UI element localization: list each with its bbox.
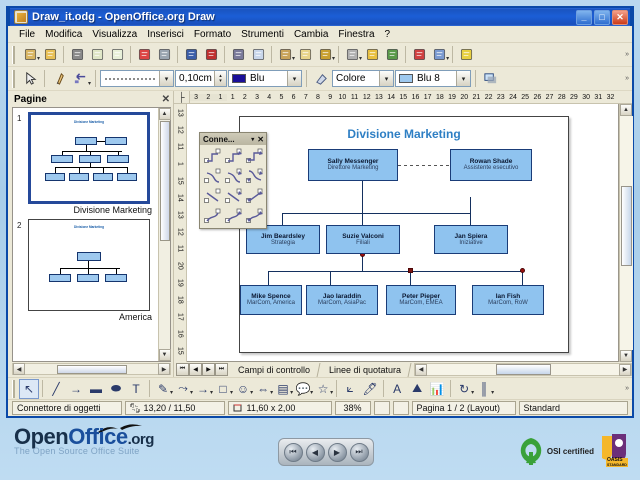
- scroll-thumb[interactable]: [621, 186, 632, 266]
- position-icon: [130, 403, 140, 413]
- thumbnail-line: [62, 151, 122, 152]
- toolbar-separator: [475, 70, 476, 87]
- layer-tab-linee-di-quotatura[interactable]: Linee di quotatura: [320, 363, 412, 377]
- box-jim-beardsley[interactable]: Jim BeardsleyStrategia: [246, 225, 320, 254]
- close-icon[interactable]: ✕: [162, 94, 170, 105]
- line-color-combo[interactable]: Blu ▾: [228, 70, 302, 87]
- pages-panel-body: 1Divisione MarketingDivisione Marketing2…: [12, 107, 171, 362]
- menu-file[interactable]: File: [14, 28, 40, 41]
- status-position: 13,20 / 11,50: [125, 401, 225, 415]
- toolbar-separator: [130, 46, 131, 63]
- box-ian-fish[interactable]: Ian FishMarCom, RoW: [472, 285, 544, 315]
- line-and-fill-toolbar: ▾ ▾ 0,10cm ▴▾ Blu ▾ Colore ▾ Blu 8 ▾: [8, 67, 632, 91]
- arrow-style-icon[interactable]: [70, 69, 90, 89]
- new-document-icon[interactable]: [20, 45, 40, 65]
- ruler-tick: 15: [177, 342, 184, 359]
- connector-ian-up[interactable]: [522, 271, 523, 285]
- line-fill-toolbar-overflow[interactable]: »: [625, 75, 632, 82]
- standard-toolbar-overflow[interactable]: »: [625, 51, 632, 58]
- box-person-role: Iniziative: [459, 240, 482, 247]
- ruler-tick: 6: [288, 94, 300, 101]
- media-next-button[interactable]: ▶: [328, 443, 347, 462]
- ruler-tick: 14: [177, 189, 184, 206]
- line-icon[interactable]: ╱: [46, 379, 66, 399]
- box-rowan-shade[interactable]: Rowan ShadeAssistente esecutivo: [450, 149, 532, 181]
- box-person-name: Ian Fish: [496, 293, 521, 300]
- chevron-down-icon[interactable]: ▾: [287, 71, 301, 86]
- rotate-icon[interactable]: ↻: [454, 379, 474, 399]
- connector-standard-arrow-end-icon[interactable]: [223, 147, 243, 166]
- main-area: Pagine ✕ 1Divisione MarketingDivisione M…: [8, 91, 632, 377]
- menu-modifica[interactable]: Modifica: [40, 28, 87, 41]
- ruler-tick: 13: [177, 206, 184, 223]
- scroll-up-icon[interactable]: ▲: [620, 104, 632, 116]
- paste-icon[interactable]: [275, 45, 295, 65]
- page-thumbnail-list: 1Divisione MarketingDivisione Marketing2…: [13, 108, 158, 361]
- box-person-name: Jao Iaraddin: [323, 293, 361, 300]
- box-peter-pieper[interactable]: Peter PieperMarCom, EMEA: [386, 285, 456, 315]
- scroll-left-icon[interactable]: ◀: [415, 364, 427, 376]
- toolbar-separator: [95, 70, 96, 87]
- box-person-role: Filiali: [356, 240, 370, 247]
- close-icon[interactable]: ✕: [257, 135, 264, 144]
- toolbar-grip[interactable]: [12, 46, 16, 64]
- undo-icon[interactable]: [315, 45, 335, 65]
- connector-mike-up[interactable]: [268, 271, 269, 285]
- autospellcheck-icon[interactable]: [201, 45, 221, 65]
- thumbnail-line: [127, 167, 128, 173]
- page-caption: America: [17, 311, 156, 322]
- chart-title: Divisione Marketing: [240, 127, 568, 141]
- scroll-thumb[interactable]: [496, 364, 551, 375]
- shadow-icon[interactable]: [480, 69, 500, 89]
- ruler-tick: 17: [177, 308, 184, 325]
- ruler-tick: 29: [568, 94, 580, 101]
- ruler-tick: 28: [556, 94, 568, 101]
- chart-icon[interactable]: [362, 45, 382, 65]
- ruler-tick: 30: [580, 94, 592, 101]
- box-person-role: MarCom, America: [247, 300, 295, 307]
- points-icon[interactable]: ⟀: [340, 379, 360, 399]
- box-person-name: Rowan Shade: [470, 158, 513, 165]
- layer-tab-campi-di-controllo[interactable]: Campi di controllo: [229, 363, 321, 377]
- ruler-tick: 1: [214, 94, 226, 101]
- certification-logos: OSI certified OASIS STANDARD: [518, 432, 630, 466]
- toolbar-separator: [383, 380, 384, 397]
- chevron-down-icon[interactable]: ▾: [379, 71, 393, 86]
- connector-line-icon[interactable]: [202, 167, 222, 186]
- fontwork-icon[interactable]: A: [387, 379, 407, 399]
- line-width-value: 0,10cm: [179, 73, 212, 84]
- connector-handle-middle[interactable]: [408, 268, 413, 273]
- thumbnail-box: [93, 173, 113, 181]
- ruler-tick: 12: [177, 121, 184, 138]
- ruler-tick: 11: [177, 240, 184, 257]
- connector-straight-arrow-start-icon[interactable]: [244, 187, 264, 206]
- ruler-tick: 14: [385, 94, 397, 101]
- close-button[interactable]: ✕: [612, 10, 628, 25]
- canvas-horizontal-scrollbar[interactable]: ◀ ▶: [414, 363, 632, 376]
- osi-certified-icon: [518, 436, 544, 466]
- box-person-role: MarCom, AsiaPac: [318, 300, 366, 307]
- page-caption: Divisione Marketing: [17, 204, 156, 215]
- scroll-left-icon[interactable]: ◀: [13, 363, 25, 375]
- box-jan-spiera[interactable]: Jan SpieraIniziative: [434, 225, 508, 254]
- menu-strumenti[interactable]: Strumenti: [236, 28, 289, 41]
- ruler-tick: 1: [227, 94, 239, 101]
- page-thumbnail[interactable]: Divisione Marketing: [28, 112, 150, 204]
- draw-document-icon: [14, 10, 28, 24]
- page-sheet[interactable]: Divisione Marketing: [239, 116, 569, 353]
- connector-line-arrow-start-icon[interactable]: [244, 167, 264, 186]
- pages-panel: Pagine ✕ 1Divisione MarketingDivisione M…: [8, 91, 174, 377]
- status-page-style: Standard: [519, 401, 629, 415]
- toolbar-grip[interactable]: [12, 380, 16, 398]
- status-signature-flag: [393, 401, 409, 415]
- canvas-vertical-scrollbar[interactable]: ▲ ▼: [619, 104, 632, 362]
- toolbar-separator: [42, 380, 43, 397]
- cut-icon[interactable]: [228, 45, 248, 65]
- basic-shapes-icon[interactable]: □: [213, 379, 233, 399]
- standard-toolbar: ▾▾▾▾▾ »: [8, 43, 632, 67]
- ruler-tick: 1: [177, 155, 184, 172]
- ruler-tick: 12: [177, 223, 184, 240]
- media-navigation-pod: ⏮◀▶⏭: [278, 438, 374, 466]
- ruler-tick: 24: [507, 94, 519, 101]
- thumbnail-box: [79, 155, 101, 163]
- menu-finestra[interactable]: Finestra: [333, 28, 379, 41]
- redo-icon[interactable]: [342, 45, 362, 65]
- insert-chart-icon[interactable]: 📊: [427, 379, 447, 399]
- application-window: Draw_it.odg - OpenOffice.org Draw _ □ ✕ …: [6, 6, 634, 418]
- thumbnail-line: [60, 268, 61, 274]
- scroll-trough[interactable]: [620, 116, 633, 350]
- ruler-tick: 5: [275, 94, 287, 101]
- connector-icon[interactable]: ⤳: [173, 379, 193, 399]
- scroll-thumb[interactable]: [57, 365, 127, 374]
- thumbnail-box: [75, 137, 97, 145]
- ruler-tick: 20: [177, 257, 184, 274]
- oasis-line2: STANDARD: [607, 463, 627, 467]
- connector-jim-up[interactable]: [282, 213, 283, 225]
- openoffice-logo: OpenOffice.org The Open Source Office Su…: [14, 424, 154, 456]
- toolbar-separator: [177, 46, 178, 63]
- connector-straight-arrow-end-icon[interactable]: [223, 187, 243, 206]
- page-number: 1: [17, 112, 28, 123]
- scroll-thumb[interactable]: [160, 121, 170, 241]
- pages-panel-title: Pagine: [14, 94, 47, 105]
- ruler-tick: 17: [422, 94, 434, 101]
- pages-panel-hscrollbar[interactable]: ◀ ▶: [12, 363, 171, 375]
- ruler-tick: 19: [446, 94, 458, 101]
- box-sally-messenger[interactable]: Sally MessengerDirettore Marketing: [308, 149, 398, 181]
- thumbnail-box: [49, 274, 71, 282]
- connector-curved-arrow-end-icon[interactable]: [223, 207, 243, 226]
- print-icon[interactable]: [154, 45, 174, 65]
- ruler-tick: 32: [604, 94, 616, 101]
- status-bar: Connettore di oggetti 13,20 / 11,50 11,6…: [8, 399, 632, 416]
- pages-panel-header: Pagine ✕: [8, 91, 173, 107]
- connector-handle-end[interactable]: [520, 268, 525, 273]
- scroll-right-icon[interactable]: ▶: [158, 363, 170, 375]
- thumbnail-line: [88, 261, 89, 268]
- ruler-tick: 13: [177, 104, 184, 121]
- box-person-role: Assistente esecutivo: [464, 165, 519, 172]
- thumbnail-line: [97, 141, 105, 142]
- ruler-tick: 31: [592, 94, 604, 101]
- ruler-tick: 3: [251, 94, 263, 101]
- thumbnail-box: [77, 274, 99, 282]
- connector-jao-up[interactable]: [330, 271, 331, 285]
- status-modified-flag: [374, 401, 390, 415]
- help-icon[interactable]: [456, 45, 476, 65]
- box-person-name: Peter Pieper: [402, 293, 440, 300]
- ruler-tick: 16: [177, 325, 184, 342]
- thumbnail-line: [79, 167, 80, 173]
- ruler-tick: 11: [177, 138, 184, 155]
- page-thumbnail-item[interactable]: 2Divisione MarketingAmerica: [17, 219, 156, 322]
- thumbnail-line: [55, 167, 56, 173]
- lines-and-arrows-icon[interactable]: →: [193, 379, 213, 399]
- menu-visualizza[interactable]: Visualizza: [87, 28, 142, 41]
- ruler-tick: 18: [177, 291, 184, 308]
- media-prev-button[interactable]: ◀: [306, 443, 325, 462]
- zoom-icon[interactable]: [429, 45, 449, 65]
- thumbnail-line: [60, 268, 120, 269]
- thumbnail-box: [69, 173, 89, 181]
- drawing-toolbar: ↖╱→▬⬬T✎▾⤳▾→▾□▾☺▾⇔▾▤▾💬▾☆▾⟀🖊A⛰📊↻▾║▾ »: [8, 377, 632, 399]
- export-pdf-icon[interactable]: [134, 45, 154, 65]
- toolbar-separator: [452, 46, 453, 63]
- status-page-info: Pagina 1 / 2 (Layout): [412, 401, 516, 415]
- flowchart-icon[interactable]: ▤: [273, 379, 293, 399]
- ruler-tick: 25: [519, 94, 531, 101]
- connector-straight-icon[interactable]: [202, 187, 222, 206]
- scroll-right-icon[interactable]: ▶: [619, 364, 631, 376]
- ruler-tick: 15: [177, 172, 184, 189]
- ruler-tick: 16: [409, 94, 421, 101]
- line-width-spinner[interactable]: 0,10cm ▴▾: [175, 70, 227, 87]
- vertical-ruler[interactable]: 13121111514131211201918171615: [174, 104, 187, 362]
- connector-sally-down[interactable]: [362, 181, 363, 214]
- page-number: 2: [17, 219, 28, 230]
- connector-line-arrow-end-icon[interactable]: [223, 167, 243, 186]
- drawing-canvas[interactable]: Divisione Marketing: [187, 104, 619, 362]
- ruler-tick: 7: [300, 94, 312, 101]
- connector-suzie-up[interactable]: [362, 213, 363, 225]
- status-zoom[interactable]: 38%: [335, 401, 371, 415]
- connector-standard-arrow-start-icon[interactable]: [244, 147, 264, 166]
- stars-icon[interactable]: ☆: [313, 379, 333, 399]
- hyperlink-icon[interactable]: [409, 45, 429, 65]
- select-icon[interactable]: ↖: [19, 379, 39, 399]
- box-person-role: MarCom, EMEA: [399, 300, 442, 307]
- scroll-up-icon[interactable]: ▲: [159, 108, 171, 120]
- open-document-icon[interactable]: [40, 45, 60, 65]
- ruler-tick: 8: [312, 94, 324, 101]
- canvas-wrapper: 13121111514131211201918171615 Divisione …: [174, 104, 632, 362]
- size-icon: [233, 403, 243, 413]
- rectangle-icon[interactable]: ▬: [86, 379, 106, 399]
- connector-curved-arrow-both-icon[interactable]: [244, 207, 264, 226]
- box-person-role: Direttore Marketing: [327, 165, 378, 172]
- thumbnail-box: [77, 252, 101, 261]
- menu-formato[interactable]: Formato: [189, 28, 236, 41]
- ruler-tick: 21: [470, 94, 482, 101]
- last-page-button[interactable]: ⏭: [215, 363, 228, 376]
- osi-certified-label: OSI certified: [547, 447, 594, 456]
- symbol-shapes-icon[interactable]: ☺: [233, 379, 253, 399]
- menu-inserisci[interactable]: Inserisci: [142, 28, 189, 41]
- status-size-value: 11,60 x 2,00: [247, 403, 296, 413]
- ruler-tick: 26: [531, 94, 543, 101]
- copy-icon[interactable]: [248, 45, 268, 65]
- connector-jan-up[interactable]: [470, 197, 471, 225]
- toolbar-separator: [306, 70, 307, 87]
- chevron-down-icon[interactable]: ▾: [456, 71, 470, 86]
- line-color-value: Blu: [250, 73, 264, 84]
- send-email-icon[interactable]: [87, 45, 107, 65]
- line-color-swatch: [232, 74, 246, 83]
- ruler-tick: 15: [397, 94, 409, 101]
- ruler-tick: 23: [495, 94, 507, 101]
- select-object-icon[interactable]: [20, 69, 40, 89]
- status-position-value: 13,20 / 11,50: [144, 403, 196, 413]
- clone-formatting-icon[interactable]: [295, 45, 315, 65]
- box-suzie-valconi[interactable]: Suzie ValconiFiliali: [326, 225, 400, 254]
- spellcheck-icon[interactable]: [181, 45, 201, 65]
- connectors-grid: [200, 145, 266, 228]
- connector-level3-horizontal[interactable]: [268, 271, 522, 272]
- scroll-down-icon[interactable]: ▼: [620, 350, 632, 362]
- thumbnail-box: [107, 155, 129, 163]
- thumbnail-box: [51, 155, 73, 163]
- thumbnail-line: [103, 167, 104, 173]
- area-style-icon[interactable]: [311, 69, 331, 89]
- menu-help[interactable]: ?: [380, 28, 396, 41]
- chevron-down-icon[interactable]: ▾: [159, 71, 173, 86]
- pages-panel-scrollbar[interactable]: ▲ ▼: [158, 108, 170, 361]
- gallery-icon[interactable]: [382, 45, 402, 65]
- drawing-toolbar-overflow[interactable]: »: [625, 385, 632, 392]
- next-page-button[interactable]: ▶: [202, 363, 215, 376]
- thumbnail-title: Divisione Marketing: [29, 225, 149, 229]
- title-bar: Draw_it.odg - OpenOffice.org Draw _ □ ✕: [8, 6, 632, 26]
- box-person-name: Sally Messenger: [328, 158, 379, 165]
- scroll-down-icon[interactable]: ▼: [159, 349, 171, 361]
- menu-bar: FileModificaVisualizzaInserisciFormatoSt…: [8, 26, 632, 43]
- box-person-name: Suzie Valconi: [342, 233, 384, 240]
- thumbnail-line: [118, 151, 119, 155]
- ruler-tick: 13: [373, 94, 385, 101]
- insert-image-icon[interactable]: ⛰: [407, 379, 427, 399]
- thumbnail-title: Divisione Marketing: [31, 120, 147, 124]
- toolbar-separator: [450, 380, 451, 397]
- box-person-name: Jan Spiera: [455, 233, 488, 240]
- ruler-tick: 9: [324, 94, 336, 101]
- thumbnail-line: [116, 268, 117, 274]
- save-document-icon[interactable]: [67, 45, 87, 65]
- line-style-combo[interactable]: ▾: [100, 70, 174, 87]
- toolbar-grip[interactable]: [12, 70, 16, 88]
- connectors-floating-toolbar[interactable]: Conne... ▾ ✕: [199, 132, 267, 229]
- connector-standard-icon[interactable]: [202, 147, 222, 166]
- previous-page-button[interactable]: ◀: [189, 363, 202, 376]
- connector-curved-icon[interactable]: [202, 207, 222, 226]
- chevron-down-icon[interactable]: ▾: [251, 136, 254, 143]
- connector-sally-rowan[interactable]: [398, 165, 450, 166]
- box-jao-iaraddin[interactable]: Jao IaraddinMarCom, AsiaPac: [306, 285, 378, 315]
- ruler-tick: 20: [458, 94, 470, 101]
- toolbar-separator: [149, 380, 150, 397]
- connectors-toolbar-header[interactable]: Conne... ▾ ✕: [200, 133, 266, 145]
- toolbar-separator: [63, 46, 64, 63]
- ruler-tick: 4: [263, 94, 275, 101]
- menu-cambia[interactable]: Cambia: [289, 28, 333, 41]
- minimize-button[interactable]: _: [576, 10, 592, 25]
- curve-icon[interactable]: ✎: [153, 379, 173, 399]
- ruler-corner-icon[interactable]: ├: [174, 91, 190, 104]
- status-size: 11,60 x 2,00: [228, 401, 332, 415]
- first-page-button[interactable]: ⏮: [176, 363, 189, 376]
- line-style-icon[interactable]: [49, 69, 69, 89]
- ruler-tick: 11: [348, 94, 360, 101]
- callouts-icon[interactable]: 💬: [293, 379, 313, 399]
- ruler-tick: 22: [483, 94, 495, 101]
- page-thumbnail-item[interactable]: 1Divisione MarketingDivisione Marketing: [17, 112, 156, 215]
- connector-peter-up[interactable]: [410, 271, 411, 285]
- connector-level2-horizontal[interactable]: [282, 213, 470, 214]
- spinner-arrows-icon[interactable]: ▴▾: [214, 71, 226, 86]
- media-first-button[interactable]: ⏮: [284, 443, 303, 462]
- thumbnail-box: [45, 173, 65, 181]
- toolbar-separator: [271, 46, 272, 63]
- text-icon[interactable]: T: [126, 379, 146, 399]
- thumbnail-line: [90, 151, 91, 155]
- ruler-tick: 27: [543, 94, 555, 101]
- glue-points-icon[interactable]: 🖊: [360, 379, 380, 399]
- maximize-button[interactable]: □: [594, 10, 610, 25]
- box-person-name: Mike Spence: [251, 293, 290, 300]
- edit-file-icon[interactable]: [107, 45, 127, 65]
- toolbar-separator: [44, 70, 45, 87]
- window-controls: _ □ ✕: [576, 10, 628, 25]
- ruler-tick: 2: [239, 94, 251, 101]
- line-with-arrow-icon[interactable]: →: [66, 379, 86, 399]
- toolbar-separator: [405, 46, 406, 63]
- block-arrows-icon[interactable]: ⇔: [253, 379, 273, 399]
- ruler-tick: 19: [177, 274, 184, 291]
- alignment-icon[interactable]: ║: [474, 379, 494, 399]
- page-thumbnail[interactable]: Divisione Marketing: [28, 219, 150, 311]
- box-person-name: Jim Beardsley: [261, 233, 305, 240]
- fill-type-value: Colore: [336, 73, 365, 84]
- fill-color-combo[interactable]: Blu 8 ▾: [395, 70, 471, 87]
- ruler-tick: 18: [434, 94, 446, 101]
- box-person-role: Strategia: [271, 240, 295, 247]
- fill-type-combo[interactable]: Colore ▾: [332, 70, 394, 87]
- media-last-button[interactable]: ⏭: [350, 443, 369, 462]
- fill-color-swatch: [399, 74, 413, 83]
- ruler-tick: 10: [336, 94, 348, 101]
- editor-area: ├ 32112345678910111213141516171819202122…: [174, 91, 632, 377]
- thumbnail-box: [105, 137, 127, 145]
- ruler-tick: 12: [361, 94, 373, 101]
- box-mike-spence[interactable]: Mike SpenceMarCom, America: [240, 285, 302, 315]
- horizontal-ruler[interactable]: ├ 32112345678910111213141516171819202122…: [174, 91, 632, 104]
- thumbnail-box: [105, 274, 127, 282]
- ellipse-icon[interactable]: ⬬: [106, 379, 126, 399]
